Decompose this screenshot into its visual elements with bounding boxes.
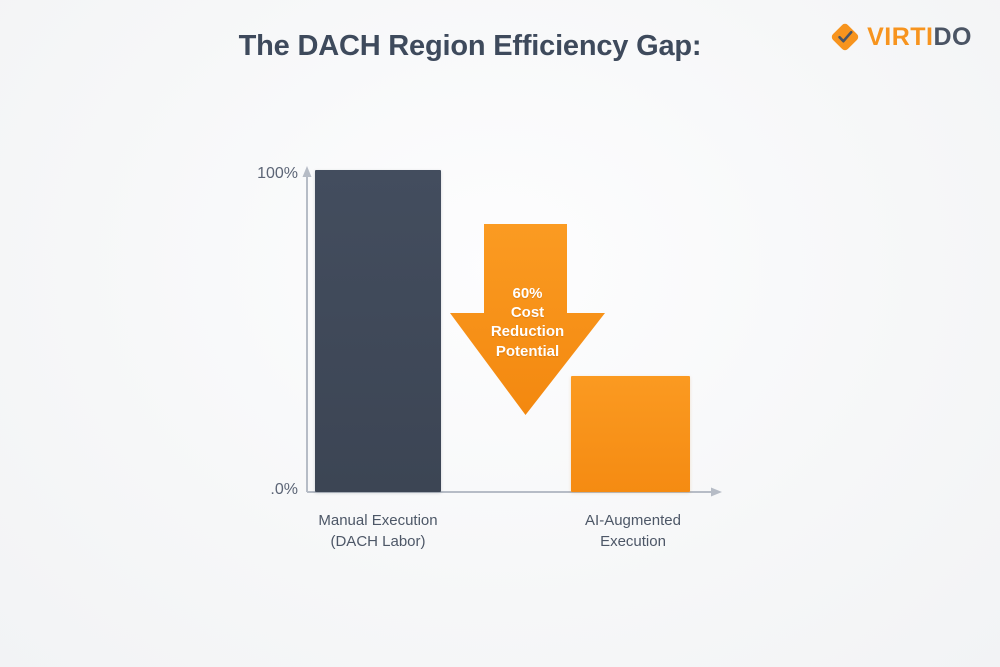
- cost-reduction-callout: 60% Cost Reduction Potential: [450, 224, 605, 416]
- y-tick-label-100: 100%: [228, 165, 298, 183]
- category-label-ai-line2: Execution: [513, 531, 753, 552]
- down-arrow-icon: [450, 224, 605, 416]
- category-label-ai: AI-Augmented Execution: [513, 510, 753, 553]
- y-tick-label-0: .0%: [228, 481, 298, 499]
- category-label-manual-line1: Manual Execution: [258, 510, 498, 531]
- category-label-manual-line2: (DACH Labor): [258, 531, 498, 552]
- bar-manual-execution: [315, 170, 441, 492]
- bar-chart: 100% .0% Manual Execution (DACH Labor) A…: [0, 0, 1000, 667]
- category-label-manual: Manual Execution (DACH Labor): [258, 510, 498, 553]
- category-label-ai-line1: AI-Augmented: [513, 510, 753, 531]
